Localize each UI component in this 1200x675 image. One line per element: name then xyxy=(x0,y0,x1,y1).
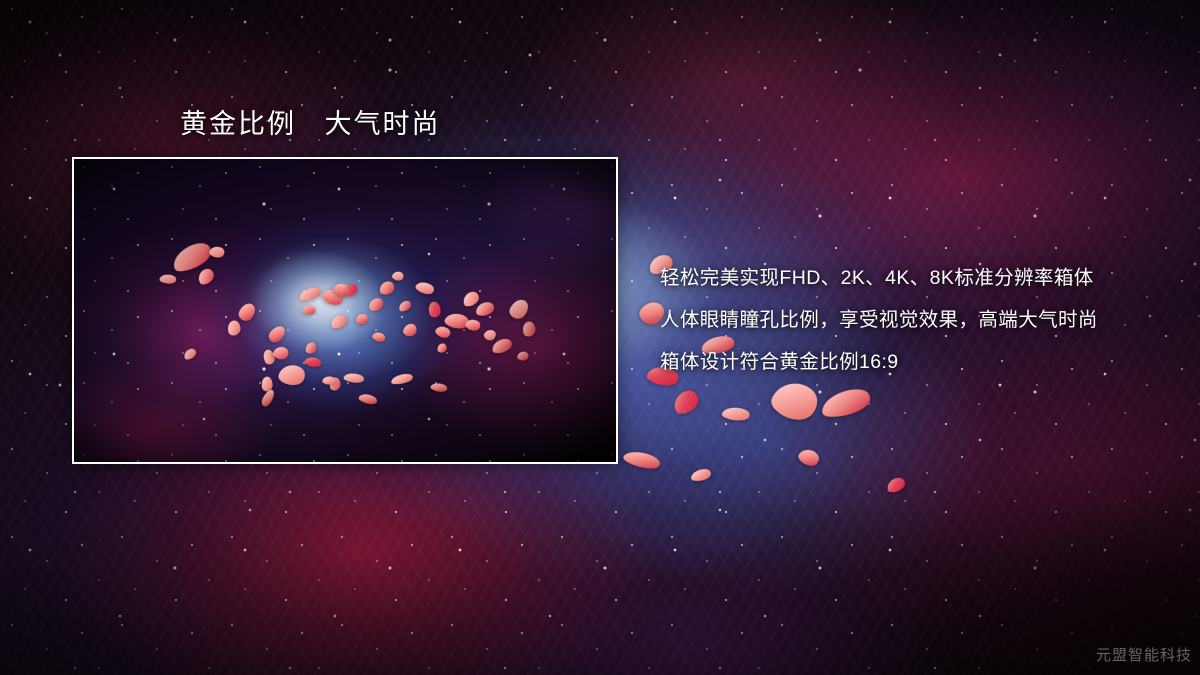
framed-nebula-image[interactable] xyxy=(72,157,618,464)
flower-petal-icon xyxy=(817,384,876,422)
flower-petal-icon xyxy=(303,355,323,369)
flower-petal-icon xyxy=(259,375,274,393)
flower-petal-icon xyxy=(668,386,703,419)
body-line-1: 轻松完美实现FHD、2K、4K、8K标准分辨率箱体 xyxy=(660,257,1160,299)
flower-petal-icon xyxy=(402,322,419,339)
flower-petal-icon xyxy=(357,391,379,407)
flower-petal-icon xyxy=(208,244,226,260)
flower-petal-icon xyxy=(322,375,337,385)
flower-petal-icon xyxy=(266,322,289,346)
flower-petal-icon xyxy=(301,304,317,316)
flower-petal-icon xyxy=(426,299,444,319)
flower-petal-icon xyxy=(397,299,414,314)
watermark-label: 元盟智能科技 xyxy=(1096,644,1192,665)
flower-petal-icon xyxy=(342,281,360,298)
flower-petal-icon xyxy=(429,381,448,394)
flower-petal-icon xyxy=(236,300,258,324)
flower-petal-icon xyxy=(327,376,342,392)
flower-petal-icon xyxy=(320,285,347,309)
body-line-2: 人体眼睛瞳孔比例，享受视觉效果，高端大气时尚 xyxy=(660,299,1160,341)
flower-petal-icon xyxy=(331,279,354,300)
page-title: 黄金比例 大气时尚 xyxy=(180,102,441,141)
flower-petal-icon xyxy=(506,295,531,322)
flower-petal-icon xyxy=(304,341,318,355)
flower-petal-icon xyxy=(520,319,539,339)
flower-petal-icon xyxy=(433,323,453,341)
flower-petal-icon xyxy=(720,405,752,423)
flower-petal-icon xyxy=(460,289,482,309)
flower-petal-icon xyxy=(474,300,496,318)
flower-petal-icon xyxy=(260,347,278,367)
flower-petal-icon xyxy=(342,371,365,385)
flower-petal-icon xyxy=(371,330,388,345)
flower-petal-icon xyxy=(489,336,514,356)
flower-petal-icon xyxy=(366,296,385,314)
flower-petal-icon xyxy=(442,310,471,332)
flower-petal-icon xyxy=(884,475,908,495)
flower-petal-icon xyxy=(181,346,198,361)
flower-petal-icon xyxy=(389,372,414,386)
flower-petal-icon xyxy=(463,317,482,334)
flower-petal-icon xyxy=(194,265,217,287)
flower-petal-icon xyxy=(437,343,448,354)
flower-petal-icon xyxy=(795,445,823,471)
body-line-3: 箱体设计符合黄金比例16:9 xyxy=(660,341,1160,383)
framed-image-petal-group xyxy=(74,159,616,462)
flower-petal-icon xyxy=(391,269,406,282)
flower-petal-icon xyxy=(276,361,308,388)
flower-petal-icon xyxy=(297,285,323,303)
flower-petal-icon xyxy=(482,327,498,343)
flower-petal-icon xyxy=(225,318,243,338)
flower-petal-icon xyxy=(158,273,177,285)
flower-petal-icon xyxy=(378,280,396,297)
flower-petal-icon xyxy=(259,387,276,409)
flower-petal-icon xyxy=(328,312,350,331)
flower-petal-icon xyxy=(621,447,664,473)
flower-petal-icon xyxy=(355,312,370,327)
body-text-block: 轻松完美实现FHD、2K、4K、8K标准分辨率箱体 人体眼睛瞳孔比例，享受视觉效… xyxy=(660,257,1160,383)
flower-petal-icon xyxy=(516,350,529,362)
flower-petal-icon xyxy=(413,279,436,298)
flower-petal-icon xyxy=(167,237,217,277)
slide-canvas: 黄金比例 大气时尚 轻松完美实现FHD、2K、4K、8K标准分辨率箱体 人体眼睛… xyxy=(0,0,1200,675)
flower-petal-icon xyxy=(689,467,713,483)
flower-petal-icon xyxy=(271,344,291,362)
